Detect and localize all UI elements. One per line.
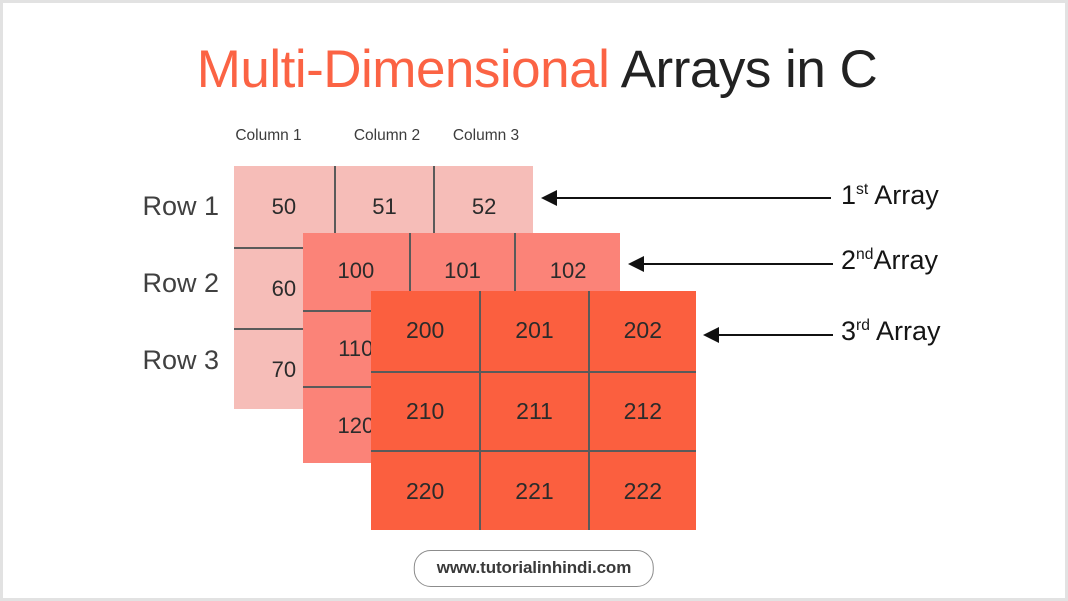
array-label-3-suffix: rd [856,317,870,334]
array-3-cell-1-2: 212 [588,371,696,451]
array-label-2-number: 2 [841,245,856,275]
row-label-1: Row 1 [43,191,219,222]
array-label-3-number: 3 [841,316,856,346]
array-3-cell-2-2: 222 [588,450,696,530]
array-3-cell-2-0: 220 [371,450,479,530]
column-header-3: Column 3 [436,127,536,145]
array-label-1: 1st Array [841,180,939,211]
array-diagram: Column 1 Column 2 Column 3 Row 1 Row 2 R… [3,3,1068,601]
array-3-cell-2-1: 221 [479,450,587,530]
array-label-3: 3rd Array [841,316,940,347]
arrow-shaft-3 [717,334,833,336]
column-header-1: Column 1 [234,127,303,145]
row-label-2: Row 2 [43,268,219,299]
array-label-1-number: 1 [841,180,856,210]
array-3-cell-0-2: 202 [588,291,696,371]
row-label-3: Row 3 [43,345,219,376]
array-label-2-word: Array [873,245,938,275]
array-3-cell-1-0: 210 [371,371,479,451]
array-label-2: 2ndArray [841,245,938,276]
slide-canvas: Multi-Dimensional Arrays in C Column 1 C… [0,0,1068,601]
array-label-2-suffix: nd [856,246,873,263]
array-label-1-suffix: st [856,181,868,198]
column-header-2: Column 2 [337,127,437,145]
array-3-cell-1-1: 211 [479,371,587,451]
website-badge[interactable]: www.tutorialinhindi.com [414,550,654,587]
array-label-3-word: Array [870,316,941,346]
array-label-1-word: Array [874,180,939,210]
array-3-cell-0-1: 201 [479,291,587,371]
array-3-cell-0-0: 200 [371,291,479,371]
arrow-shaft-2 [642,263,833,265]
array-grid-3: 200 201 202 210 211 212 220 221 222 [371,291,696,530]
arrow-shaft-1 [555,197,831,199]
